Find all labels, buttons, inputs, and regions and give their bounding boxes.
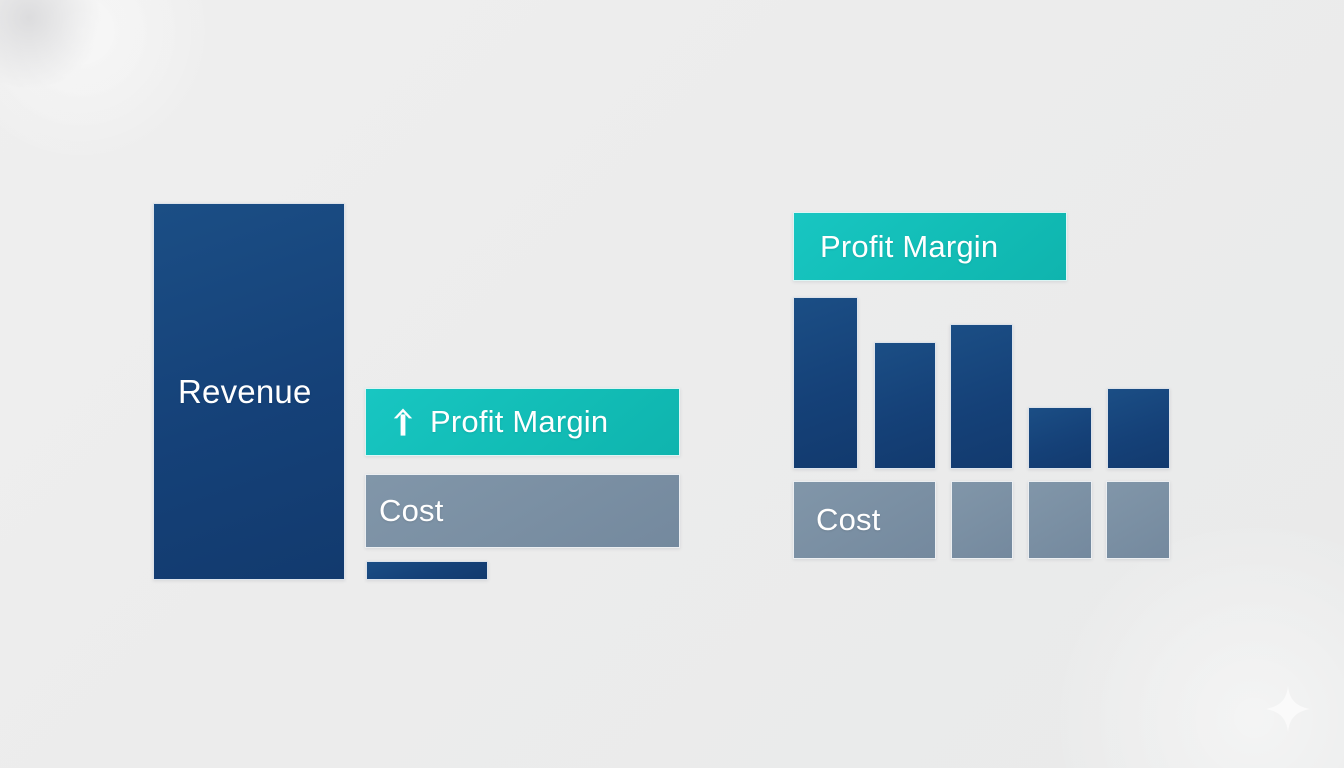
cost-bar-2[interactable] (951, 481, 1013, 559)
cost-bar-left[interactable]: Cost (365, 474, 680, 548)
sparkle-icon (1266, 686, 1310, 732)
accent-bar-left[interactable] (366, 561, 488, 580)
profit-margin-bar-left-content: Profit Margin (392, 404, 608, 440)
revenue-bar-label: Revenue (178, 373, 312, 411)
profit-margin-bar-1[interactable] (793, 297, 858, 469)
cost-bar-right-label: Cost (816, 502, 881, 538)
profit-margin-bar-2[interactable] (874, 342, 936, 469)
cost-bar-right[interactable]: Cost (793, 481, 936, 559)
cost-bar-left-label: Cost (379, 493, 444, 529)
profit-margin-bar-4[interactable] (1028, 407, 1092, 469)
background-glow-top-left (0, 0, 104, 88)
background-glow-bottom-right (1044, 528, 1344, 768)
profit-margin-bar-left[interactable]: Profit Margin (365, 388, 680, 456)
arrow-up-icon (392, 407, 414, 437)
infographic-canvas: Revenue Profit Margin Cost Profit Margin… (0, 0, 1344, 768)
cost-bar-4[interactable] (1106, 481, 1170, 559)
profit-margin-bar-left-label: Profit Margin (430, 404, 608, 440)
profit-margin-header-right-label: Profit Margin (820, 229, 998, 265)
revenue-bar[interactable]: Revenue (153, 203, 345, 580)
profit-margin-bar-3[interactable] (950, 324, 1013, 469)
cost-bar-3[interactable] (1028, 481, 1092, 559)
profit-margin-header-right[interactable]: Profit Margin (793, 212, 1067, 281)
profit-margin-bar-5[interactable] (1107, 388, 1170, 469)
